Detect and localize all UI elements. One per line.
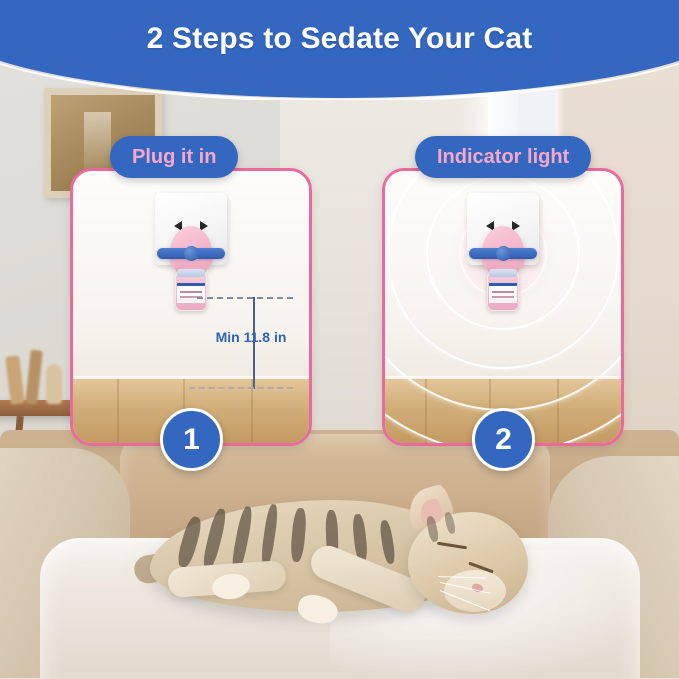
diffuser-knob <box>496 246 511 261</box>
vial-cap <box>177 269 205 277</box>
plugged-in-diffuser <box>147 193 235 313</box>
step-1-number: 1 <box>160 408 223 471</box>
diffuser-knob <box>184 246 199 261</box>
step-2-card <box>382 168 624 446</box>
header-banner: 2 Steps to Sedate Your Cat <box>0 0 679 100</box>
step-1-badge: Plug it in <box>110 136 238 178</box>
min-height-label: Min 11.8 in <box>193 329 309 345</box>
decor-object <box>46 364 62 404</box>
infographic-canvas: 2 Steps to Sedate Your Cat Min 11.8 i <box>0 0 679 679</box>
sleeping-cat <box>140 478 560 646</box>
vial-label <box>489 283 517 303</box>
measure-dashed-line-top <box>197 297 293 299</box>
step-1-card: Min 11.8 in <box>70 168 312 446</box>
vial-label <box>177 283 205 303</box>
vial-cap <box>489 269 517 277</box>
page-title: 2 Steps to Sedate Your Cat <box>0 22 679 56</box>
step-2-badge: Indicator light <box>415 136 591 178</box>
plugged-in-diffuser <box>459 193 547 313</box>
step-2-number: 2 <box>472 408 535 471</box>
measure-dashed-line-bottom <box>189 387 293 389</box>
